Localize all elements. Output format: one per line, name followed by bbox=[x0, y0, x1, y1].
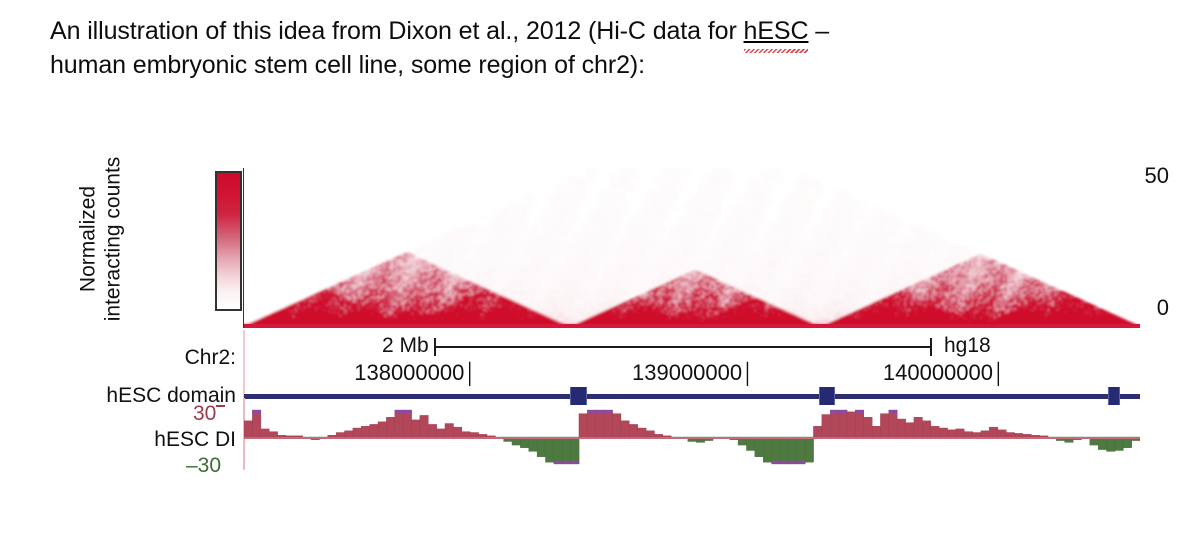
di-min-tick-label: –30 bbox=[186, 454, 221, 478]
colorbar-max-label: 50 bbox=[1145, 165, 1169, 187]
heatmap-diagonal bbox=[244, 324, 1140, 328]
domain-block-0 bbox=[570, 387, 587, 405]
caption-spellcheck-word: hESC bbox=[744, 14, 809, 48]
di-track-label: hESC DI bbox=[58, 428, 236, 452]
coordinate-label-1: 139000000│ bbox=[632, 360, 755, 386]
scalebar-label: 2 Mb bbox=[382, 334, 429, 358]
colorbar-title-line1: Normalized bbox=[76, 186, 99, 292]
hic-contact-heatmap bbox=[244, 168, 1140, 328]
caption-line1-part2: – bbox=[808, 17, 829, 45]
di-zero-line bbox=[244, 437, 1140, 439]
heatmap-cells bbox=[244, 168, 1139, 328]
di-max-tick-label: 30 bbox=[193, 402, 216, 426]
coordinate-label-0: 138000000│ bbox=[354, 360, 477, 386]
caption-line2: human embryonic stem cell line, some reg… bbox=[50, 51, 645, 79]
genomic-coordinate-ruler: 2 Mb hg18 138000000│139000000│140000000│ bbox=[244, 332, 1140, 394]
coordinate-label-2: 140000000│ bbox=[883, 360, 1006, 386]
domain-baseline bbox=[244, 394, 1140, 399]
scalebar bbox=[434, 346, 932, 348]
hesc-directionality-index-track bbox=[244, 408, 1140, 468]
colorbar-min-label: 0 bbox=[1157, 297, 1169, 319]
colorbar-title-line2: interacting counts bbox=[101, 157, 124, 322]
chromosome-label: Chr2: bbox=[128, 346, 236, 370]
heatmap-canvas bbox=[244, 168, 1140, 328]
hic-figure: Normalized interacting counts 50 0 Chr2:… bbox=[0, 140, 1200, 500]
domain-block-2 bbox=[1108, 387, 1120, 405]
hesc-domain-track bbox=[244, 387, 1140, 405]
colorbar bbox=[215, 171, 242, 311]
colorbar-gradient bbox=[215, 171, 242, 311]
domain-block-1 bbox=[819, 387, 834, 405]
caption-line1-part1: An illustration of this idea from Dixon … bbox=[50, 17, 744, 45]
assembly-label: hg18 bbox=[944, 334, 991, 358]
page-title: An illustration of this idea from Dixon … bbox=[50, 14, 1160, 82]
colorbar-axis-label: Normalized interacting counts bbox=[0, 164, 210, 314]
